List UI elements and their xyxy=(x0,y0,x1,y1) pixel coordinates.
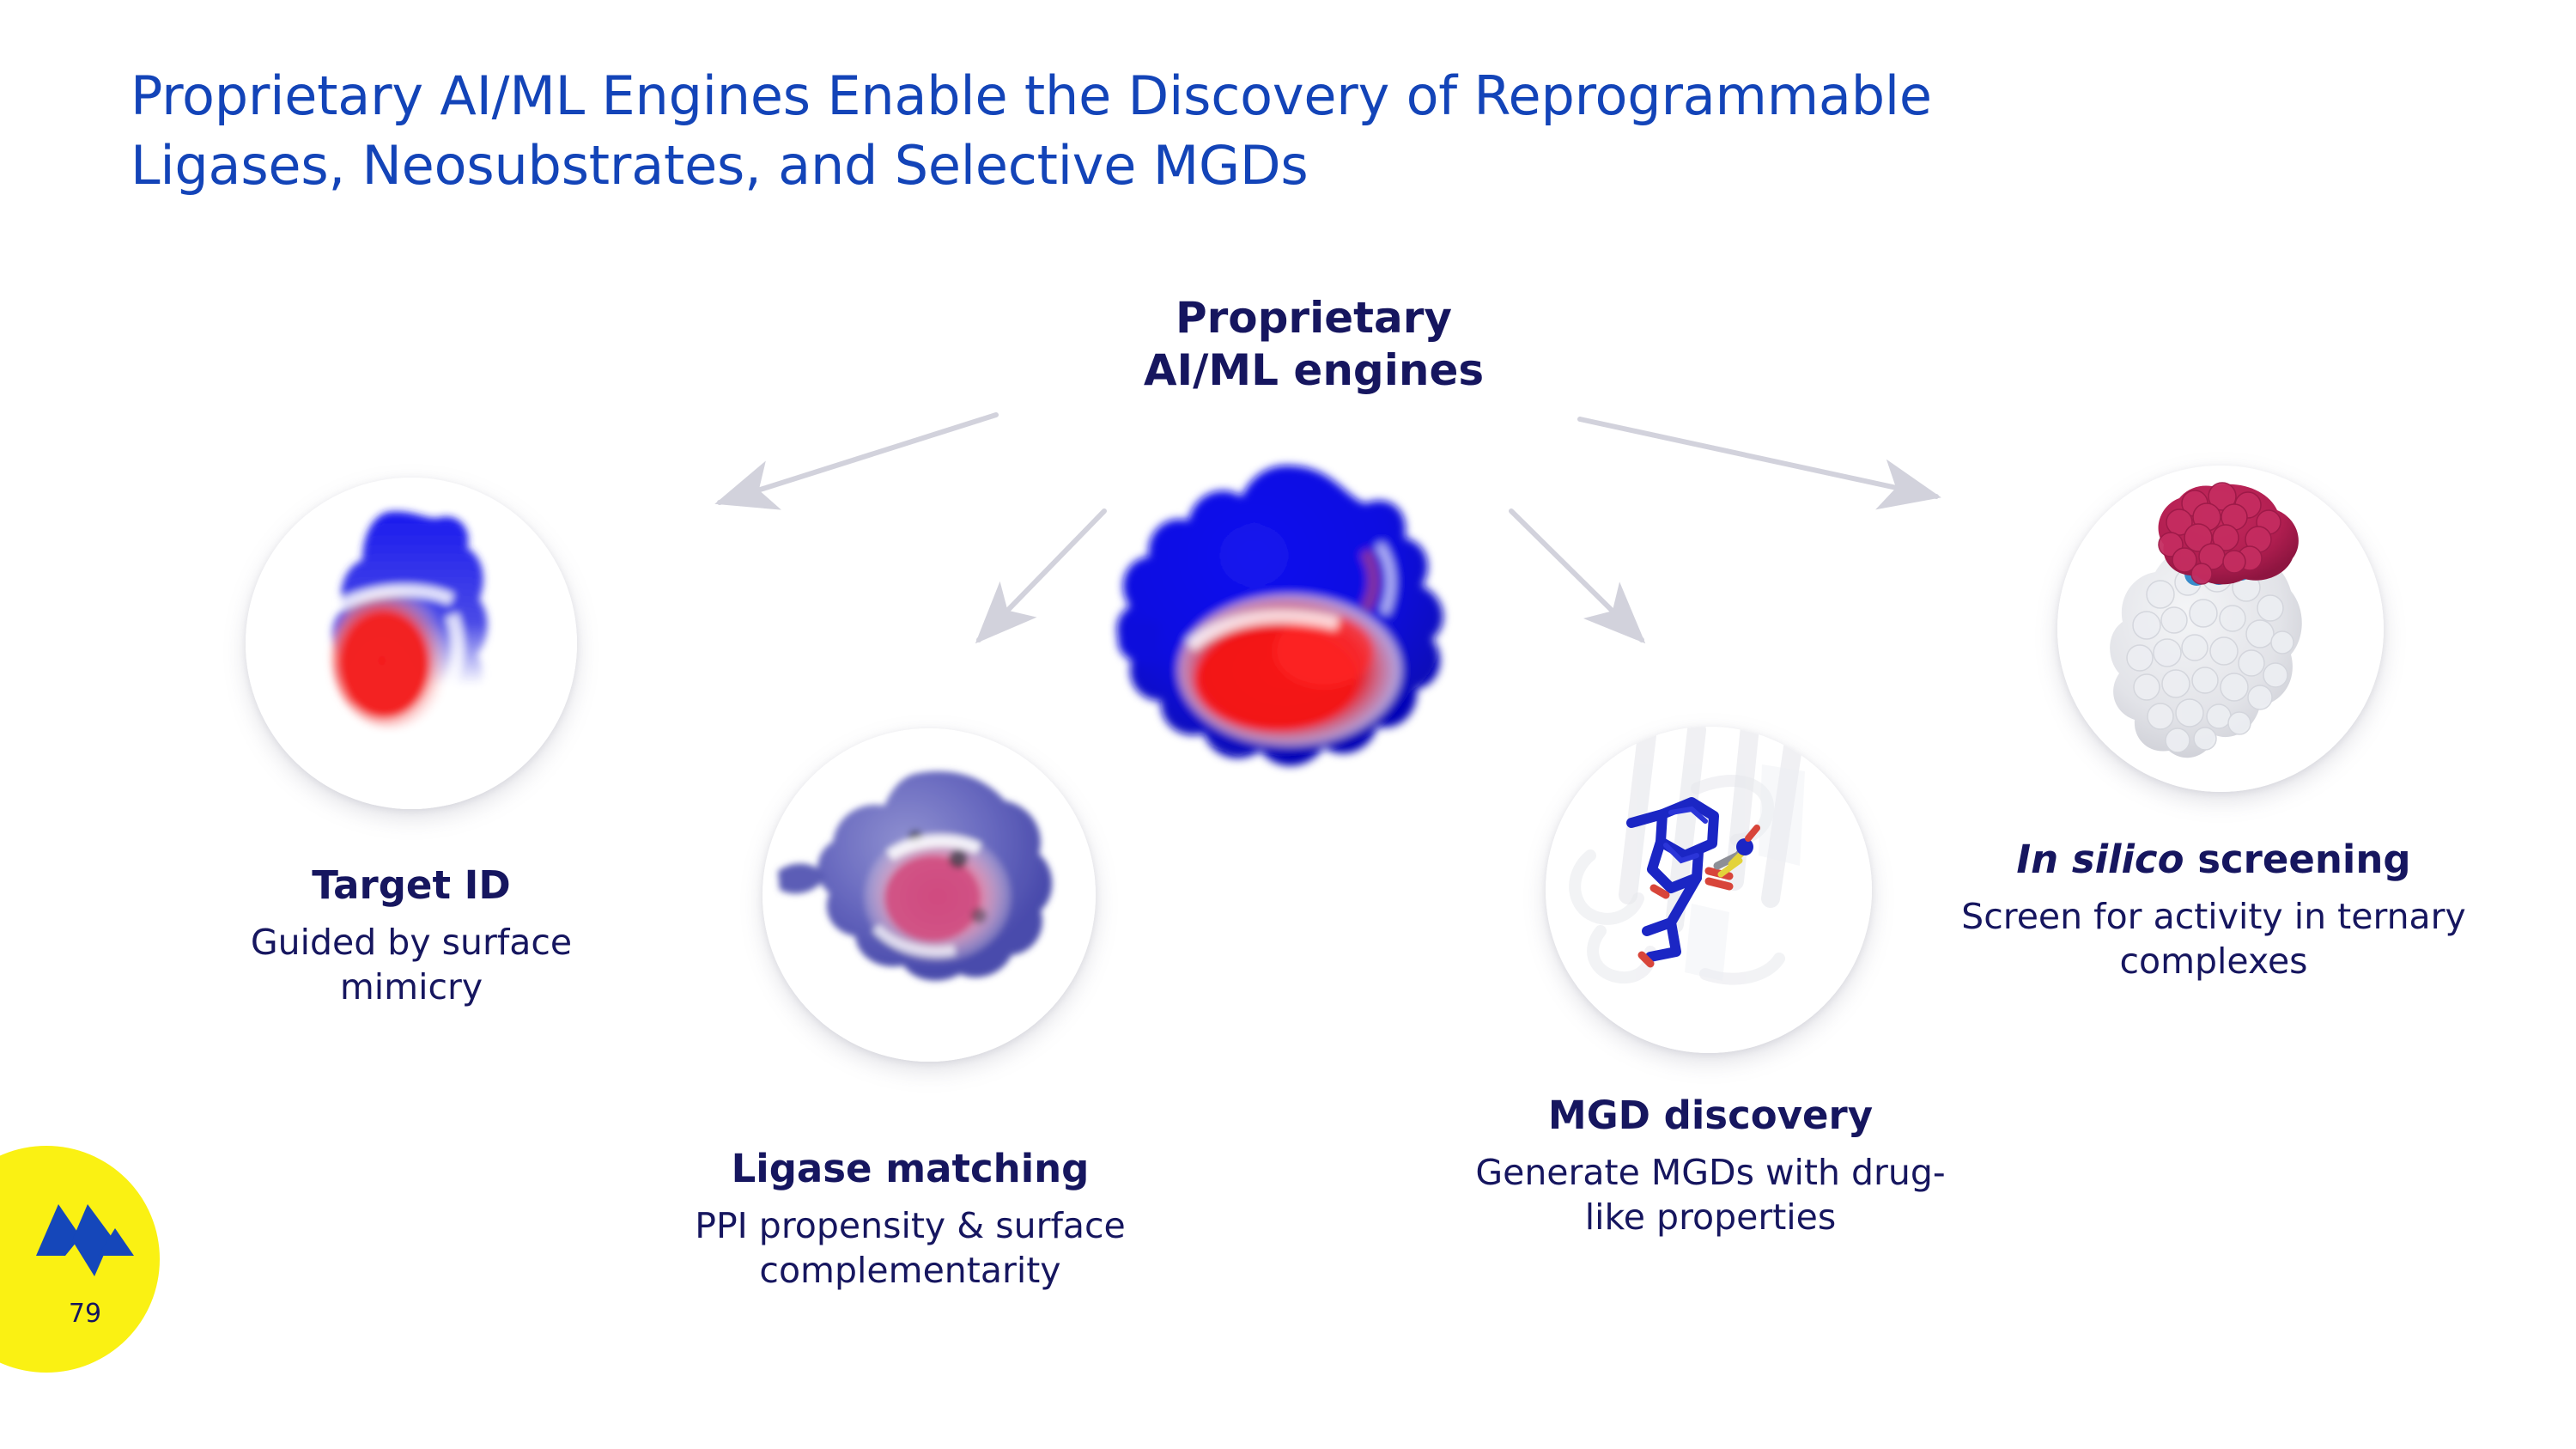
node-text-ligase-matching: Ligase matching PPI propensity & surface… xyxy=(635,1146,1185,1293)
arrow-to-ligase-matching xyxy=(979,511,1104,640)
ligand-stick-model-icon xyxy=(1546,727,1872,1053)
node-text-in-silico-screening: In silico screening Screen for activity … xyxy=(1956,837,2471,983)
node-title-target-id: Target ID xyxy=(211,862,611,909)
hub-label-line-2: AI/ML engines xyxy=(1022,344,1606,397)
node-desc-ligase-matching: PPI propensity & surface complementarity xyxy=(635,1204,1185,1293)
node-circle-in-silico-screening xyxy=(2057,466,2384,792)
node-title-italic-prefix: In silico xyxy=(2016,837,2184,882)
node-circle-ligase-matching xyxy=(762,728,1096,1062)
hub-label-line-1: Proprietary xyxy=(1022,292,1606,344)
node-title-ligase-matching: Ligase matching xyxy=(635,1146,1185,1192)
node-title-text: screening xyxy=(2197,837,2410,882)
arrow-to-mgd-discovery xyxy=(1511,511,1642,640)
arrow-to-target-id xyxy=(720,415,996,502)
node-circle-mgd-discovery xyxy=(1546,727,1872,1053)
node-circle-target-id xyxy=(246,478,577,809)
company-m-logo-icon xyxy=(34,1202,136,1278)
node-text-target-id: Target ID Guided by surface mimicry xyxy=(211,862,611,1009)
node-title-in-silico-screening: In silico screening xyxy=(1956,837,2471,883)
electrostatic-surface-icon xyxy=(1108,455,1468,816)
protein-surface-icon xyxy=(762,728,1096,1062)
node-desc-mgd-discovery: Generate MGDs with drug-like properties xyxy=(1475,1151,1946,1239)
hub-image xyxy=(1108,455,1468,816)
slide-canvas: Proprietary AI/ML Engines Enable the Dis… xyxy=(0,0,2576,1449)
node-text-mgd-discovery: MGD discovery Generate MGDs with drug-li… xyxy=(1475,1093,1946,1239)
node-desc-target-id: Guided by surface mimicry xyxy=(211,921,611,1009)
protein-surface-icon xyxy=(246,478,577,809)
hub-label: Proprietary AI/ML engines xyxy=(1022,292,1606,397)
node-title-mgd-discovery: MGD discovery xyxy=(1475,1093,1946,1139)
arrow-to-in-silico-screening xyxy=(1580,419,1936,496)
page-number: 79 xyxy=(34,1299,136,1329)
node-desc-in-silico-screening: Screen for activity in ternary complexes xyxy=(1956,895,2471,983)
ternary-complex-spacefill-icon xyxy=(2057,466,2384,792)
